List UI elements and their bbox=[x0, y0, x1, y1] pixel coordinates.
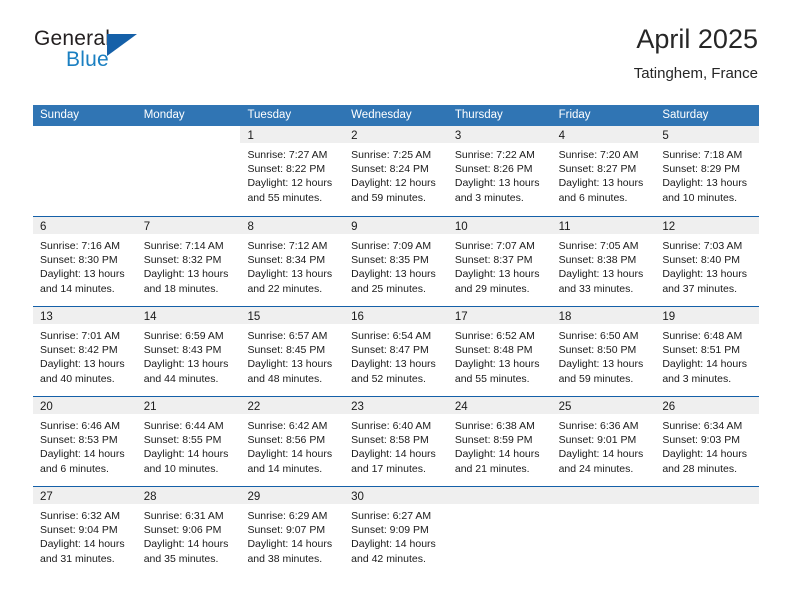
sunset-text: Sunset: 9:07 PM bbox=[247, 523, 337, 537]
day-sun-info: Sunrise: 6:44 AMSunset: 8:55 PMDaylight:… bbox=[137, 414, 241, 476]
sunrise-text: Sunrise: 6:38 AM bbox=[455, 419, 545, 433]
title-block: April 2025 Tatinghem, France bbox=[634, 26, 758, 81]
day-sun-info: Sunrise: 6:59 AMSunset: 8:43 PMDaylight:… bbox=[137, 324, 241, 386]
sunset-text: Sunset: 8:30 PM bbox=[40, 253, 130, 267]
calendar-day-cell[interactable]: 17Sunrise: 6:52 AMSunset: 8:48 PMDayligh… bbox=[448, 307, 552, 396]
daylight-text-line2: and 22 minutes. bbox=[247, 282, 337, 296]
day-number-band: 13 bbox=[33, 307, 137, 324]
day-number-band: 4 bbox=[552, 126, 656, 143]
sunrise-text: Sunrise: 6:52 AM bbox=[455, 329, 545, 343]
sunset-text: Sunset: 8:26 PM bbox=[455, 162, 545, 176]
calendar-week-row: 13Sunrise: 7:01 AMSunset: 8:42 PMDayligh… bbox=[33, 306, 759, 396]
day-number: 5 bbox=[662, 130, 668, 142]
day-sun-info: Sunrise: 6:34 AMSunset: 9:03 PMDaylight:… bbox=[655, 414, 759, 476]
day-sun-info: Sunrise: 7:05 AMSunset: 8:38 PMDaylight:… bbox=[552, 234, 656, 296]
calendar-day-cell[interactable]: 8Sunrise: 7:12 AMSunset: 8:34 PMDaylight… bbox=[240, 217, 344, 306]
weekday-header-sunday: Sunday bbox=[33, 105, 137, 126]
daylight-text-line1: Daylight: 14 hours bbox=[144, 447, 234, 461]
daylight-text-line2: and 52 minutes. bbox=[351, 372, 441, 386]
day-sun-info: Sunrise: 6:31 AMSunset: 9:06 PMDaylight:… bbox=[137, 504, 241, 566]
sunrise-text: Sunrise: 7:20 AM bbox=[559, 148, 649, 162]
sunrise-text: Sunrise: 6:50 AM bbox=[559, 329, 649, 343]
daylight-text-line1: Daylight: 14 hours bbox=[455, 447, 545, 461]
day-number: 21 bbox=[144, 401, 157, 413]
day-sun-info: Sunrise: 6:54 AMSunset: 8:47 PMDaylight:… bbox=[344, 324, 448, 386]
calendar-day-cell[interactable]: 26Sunrise: 6:34 AMSunset: 9:03 PMDayligh… bbox=[655, 397, 759, 486]
daylight-text-line2: and 40 minutes. bbox=[40, 372, 130, 386]
day-number: 3 bbox=[455, 130, 461, 142]
day-number: 29 bbox=[247, 491, 260, 503]
day-number: 30 bbox=[351, 491, 364, 503]
calendar-week-row: 27Sunrise: 6:32 AMSunset: 9:04 PMDayligh… bbox=[33, 486, 759, 576]
sunset-text: Sunset: 9:09 PM bbox=[351, 523, 441, 537]
daylight-text-line2: and 48 minutes. bbox=[247, 372, 337, 386]
day-number-band bbox=[552, 487, 656, 504]
daylight-text-line1: Daylight: 14 hours bbox=[144, 537, 234, 551]
logo-word-general: General bbox=[34, 28, 110, 49]
daylight-text-line1: Daylight: 13 hours bbox=[40, 267, 130, 281]
calendar-day-cell[interactable]: 11Sunrise: 7:05 AMSunset: 8:38 PMDayligh… bbox=[552, 217, 656, 306]
weekday-header-friday: Friday bbox=[552, 105, 656, 126]
sunset-text: Sunset: 8:42 PM bbox=[40, 343, 130, 357]
sunset-text: Sunset: 8:59 PM bbox=[455, 433, 545, 447]
daylight-text-line1: Daylight: 14 hours bbox=[351, 537, 441, 551]
daylight-text-line2: and 38 minutes. bbox=[247, 552, 337, 566]
sunrise-text: Sunrise: 6:34 AM bbox=[662, 419, 752, 433]
day-number-band: 7 bbox=[137, 217, 241, 234]
daylight-text-line2: and 6 minutes. bbox=[40, 462, 130, 476]
daylight-text-line2: and 6 minutes. bbox=[559, 191, 649, 205]
day-number: 19 bbox=[662, 311, 675, 323]
calendar-week-row: 20Sunrise: 6:46 AMSunset: 8:53 PMDayligh… bbox=[33, 396, 759, 486]
calendar-day-cell[interactable]: 12Sunrise: 7:03 AMSunset: 8:40 PMDayligh… bbox=[655, 217, 759, 306]
calendar-day-cell[interactable]: 9Sunrise: 7:09 AMSunset: 8:35 PMDaylight… bbox=[344, 217, 448, 306]
daylight-text-line2: and 14 minutes. bbox=[247, 462, 337, 476]
calendar-day-cell[interactable]: 14Sunrise: 6:59 AMSunset: 8:43 PMDayligh… bbox=[137, 307, 241, 396]
general-blue-logo[interactable]: General Blue bbox=[34, 28, 164, 76]
day-sun-info: Sunrise: 7:27 AMSunset: 8:22 PMDaylight:… bbox=[240, 143, 344, 205]
day-number: 17 bbox=[455, 311, 468, 323]
day-number: 23 bbox=[351, 401, 364, 413]
day-number: 22 bbox=[247, 401, 260, 413]
daylight-text-line2: and 35 minutes. bbox=[144, 552, 234, 566]
day-sun-info: Sunrise: 6:40 AMSunset: 8:58 PMDaylight:… bbox=[344, 414, 448, 476]
day-number-band: 15 bbox=[240, 307, 344, 324]
daylight-text-line2: and 29 minutes. bbox=[455, 282, 545, 296]
daylight-text-line2: and 25 minutes. bbox=[351, 282, 441, 296]
calendar-day-cell-empty bbox=[33, 126, 137, 216]
sunset-text: Sunset: 9:06 PM bbox=[144, 523, 234, 537]
calendar-day-cell-empty bbox=[552, 487, 656, 576]
daylight-text-line1: Daylight: 13 hours bbox=[559, 176, 649, 190]
daylight-text-line1: Daylight: 13 hours bbox=[144, 357, 234, 371]
day-sun-info: Sunrise: 7:18 AMSunset: 8:29 PMDaylight:… bbox=[655, 143, 759, 205]
sunrise-text: Sunrise: 7:25 AM bbox=[351, 148, 441, 162]
day-number-band: 26 bbox=[655, 397, 759, 414]
calendar-day-cell[interactable]: 3Sunrise: 7:22 AMSunset: 8:26 PMDaylight… bbox=[448, 126, 552, 216]
daylight-text-line2: and 33 minutes. bbox=[559, 282, 649, 296]
weekday-header-monday: Monday bbox=[137, 105, 241, 126]
calendar-day-cell[interactable]: 30Sunrise: 6:27 AMSunset: 9:09 PMDayligh… bbox=[344, 487, 448, 576]
daylight-text-line1: Daylight: 13 hours bbox=[247, 267, 337, 281]
day-number: 26 bbox=[662, 401, 675, 413]
daylight-text-line1: Daylight: 14 hours bbox=[559, 447, 649, 461]
weekday-header-tuesday: Tuesday bbox=[240, 105, 344, 126]
sunset-text: Sunset: 8:48 PM bbox=[455, 343, 545, 357]
daylight-text-line1: Daylight: 14 hours bbox=[662, 447, 752, 461]
sunset-text: Sunset: 8:34 PM bbox=[247, 253, 337, 267]
day-sun-info: Sunrise: 6:38 AMSunset: 8:59 PMDaylight:… bbox=[448, 414, 552, 476]
daylight-text-line2: and 21 minutes. bbox=[455, 462, 545, 476]
daylight-text-line2: and 55 minutes. bbox=[247, 191, 337, 205]
daylight-text-line2: and 55 minutes. bbox=[455, 372, 545, 386]
sunset-text: Sunset: 8:53 PM bbox=[40, 433, 130, 447]
day-number-band: 27 bbox=[33, 487, 137, 504]
daylight-text-line2: and 3 minutes. bbox=[455, 191, 545, 205]
daylight-text-line1: Daylight: 13 hours bbox=[559, 357, 649, 371]
calendar-day-cell[interactable]: 7Sunrise: 7:14 AMSunset: 8:32 PMDaylight… bbox=[137, 217, 241, 306]
day-number: 9 bbox=[351, 221, 357, 233]
sunset-text: Sunset: 8:24 PM bbox=[351, 162, 441, 176]
daylight-text-line2: and 44 minutes. bbox=[144, 372, 234, 386]
day-number: 2 bbox=[351, 130, 357, 142]
daylight-text-line2: and 37 minutes. bbox=[662, 282, 752, 296]
daylight-text-line1: Daylight: 12 hours bbox=[247, 176, 337, 190]
sunrise-text: Sunrise: 7:09 AM bbox=[351, 239, 441, 253]
day-sun-info: Sunrise: 6:42 AMSunset: 8:56 PMDaylight:… bbox=[240, 414, 344, 476]
day-number-band: 21 bbox=[137, 397, 241, 414]
daylight-text-line2: and 10 minutes. bbox=[662, 191, 752, 205]
day-number-band: 9 bbox=[344, 217, 448, 234]
day-number-band: 2 bbox=[344, 126, 448, 143]
day-number-band: 24 bbox=[448, 397, 552, 414]
day-number-band bbox=[137, 126, 241, 143]
sunrise-text: Sunrise: 6:46 AM bbox=[40, 419, 130, 433]
sunrise-text: Sunrise: 6:59 AM bbox=[144, 329, 234, 343]
daylight-text-line1: Daylight: 14 hours bbox=[40, 537, 130, 551]
day-number-band: 6 bbox=[33, 217, 137, 234]
day-number: 8 bbox=[247, 221, 253, 233]
sunrise-text: Sunrise: 6:27 AM bbox=[351, 509, 441, 523]
sunrise-text: Sunrise: 7:27 AM bbox=[247, 148, 337, 162]
daylight-text-line1: Daylight: 13 hours bbox=[144, 267, 234, 281]
sunset-text: Sunset: 9:01 PM bbox=[559, 433, 649, 447]
sunrise-text: Sunrise: 6:29 AM bbox=[247, 509, 337, 523]
calendar-day-cell[interactable]: 22Sunrise: 6:42 AMSunset: 8:56 PMDayligh… bbox=[240, 397, 344, 486]
day-sun-info: Sunrise: 6:46 AMSunset: 8:53 PMDaylight:… bbox=[33, 414, 137, 476]
calendar-page: General Blue April 2025 Tatinghem, Franc… bbox=[0, 0, 792, 612]
day-sun-info: Sunrise: 6:29 AMSunset: 9:07 PMDaylight:… bbox=[240, 504, 344, 566]
day-sun-info: Sunrise: 7:22 AMSunset: 8:26 PMDaylight:… bbox=[448, 143, 552, 205]
sunset-text: Sunset: 9:04 PM bbox=[40, 523, 130, 537]
calendar-day-cell[interactable]: 10Sunrise: 7:07 AMSunset: 8:37 PMDayligh… bbox=[448, 217, 552, 306]
weekday-header-row: Sunday Monday Tuesday Wednesday Thursday… bbox=[33, 105, 759, 126]
day-sun-info: Sunrise: 6:27 AMSunset: 9:09 PMDaylight:… bbox=[344, 504, 448, 566]
day-number: 10 bbox=[455, 221, 468, 233]
sunrise-text: Sunrise: 6:42 AM bbox=[247, 419, 337, 433]
day-number: 20 bbox=[40, 401, 53, 413]
calendar-day-cell[interactable]: 25Sunrise: 6:36 AMSunset: 9:01 PMDayligh… bbox=[552, 397, 656, 486]
day-number-band: 22 bbox=[240, 397, 344, 414]
daylight-text-line2: and 31 minutes. bbox=[40, 552, 130, 566]
calendar-day-cell[interactable]: 24Sunrise: 6:38 AMSunset: 8:59 PMDayligh… bbox=[448, 397, 552, 486]
day-number: 1 bbox=[247, 130, 253, 142]
calendar-day-cell[interactable]: 20Sunrise: 6:46 AMSunset: 8:53 PMDayligh… bbox=[33, 397, 137, 486]
day-sun-info: Sunrise: 7:14 AMSunset: 8:32 PMDaylight:… bbox=[137, 234, 241, 296]
calendar-day-cell[interactable]: 19Sunrise: 6:48 AMSunset: 8:51 PMDayligh… bbox=[655, 307, 759, 396]
sunset-text: Sunset: 8:56 PM bbox=[247, 433, 337, 447]
daylight-text-line1: Daylight: 12 hours bbox=[351, 176, 441, 190]
day-number: 4 bbox=[559, 130, 565, 142]
day-sun-info: Sunrise: 7:12 AMSunset: 8:34 PMDaylight:… bbox=[240, 234, 344, 296]
daylight-text-line2: and 59 minutes. bbox=[559, 372, 649, 386]
day-sun-info: Sunrise: 7:07 AMSunset: 8:37 PMDaylight:… bbox=[448, 234, 552, 296]
day-number-band: 28 bbox=[137, 487, 241, 504]
day-number-band: 30 bbox=[344, 487, 448, 504]
weekday-header-thursday: Thursday bbox=[448, 105, 552, 126]
day-number-band bbox=[655, 487, 759, 504]
page-title: April 2025 bbox=[634, 26, 758, 53]
daylight-text-line1: Daylight: 13 hours bbox=[455, 176, 545, 190]
day-number-band: 25 bbox=[552, 397, 656, 414]
day-number: 14 bbox=[144, 311, 157, 323]
sunset-text: Sunset: 8:43 PM bbox=[144, 343, 234, 357]
sunset-text: Sunset: 8:47 PM bbox=[351, 343, 441, 357]
day-number-band: 12 bbox=[655, 217, 759, 234]
daylight-text-line2: and 18 minutes. bbox=[144, 282, 234, 296]
sunset-text: Sunset: 8:50 PM bbox=[559, 343, 649, 357]
sunrise-text: Sunrise: 6:36 AM bbox=[559, 419, 649, 433]
sunrise-text: Sunrise: 7:18 AM bbox=[662, 148, 752, 162]
day-number: 18 bbox=[559, 311, 572, 323]
day-number-band: 29 bbox=[240, 487, 344, 504]
sunrise-text: Sunrise: 6:57 AM bbox=[247, 329, 337, 343]
sunrise-text: Sunrise: 7:05 AM bbox=[559, 239, 649, 253]
sunrise-text: Sunrise: 6:54 AM bbox=[351, 329, 441, 343]
daylight-text-line1: Daylight: 14 hours bbox=[247, 447, 337, 461]
sunrise-text: Sunrise: 7:16 AM bbox=[40, 239, 130, 253]
day-number-band: 5 bbox=[655, 126, 759, 143]
sunrise-text: Sunrise: 6:31 AM bbox=[144, 509, 234, 523]
sunrise-text: Sunrise: 6:32 AM bbox=[40, 509, 130, 523]
day-number: 27 bbox=[40, 491, 53, 503]
day-sun-info: Sunrise: 6:36 AMSunset: 9:01 PMDaylight:… bbox=[552, 414, 656, 476]
day-number-band: 16 bbox=[344, 307, 448, 324]
calendar-day-cell[interactable]: 18Sunrise: 6:50 AMSunset: 8:50 PMDayligh… bbox=[552, 307, 656, 396]
daylight-text-line2: and 24 minutes. bbox=[559, 462, 649, 476]
calendar-week-row: 1Sunrise: 7:27 AMSunset: 8:22 PMDaylight… bbox=[33, 126, 759, 216]
daylight-text-line1: Daylight: 14 hours bbox=[40, 447, 130, 461]
day-number-band: 1 bbox=[240, 126, 344, 143]
sunrise-text: Sunrise: 7:14 AM bbox=[144, 239, 234, 253]
sunset-text: Sunset: 8:51 PM bbox=[662, 343, 752, 357]
day-number-band: 19 bbox=[655, 307, 759, 324]
daylight-text-line2: and 17 minutes. bbox=[351, 462, 441, 476]
day-number-band: 20 bbox=[33, 397, 137, 414]
daylight-text-line1: Daylight: 13 hours bbox=[40, 357, 130, 371]
daylight-text-line1: Daylight: 13 hours bbox=[559, 267, 649, 281]
sunset-text: Sunset: 8:35 PM bbox=[351, 253, 441, 267]
daylight-text-line2: and 14 minutes. bbox=[40, 282, 130, 296]
calendar-day-cell[interactable]: 23Sunrise: 6:40 AMSunset: 8:58 PMDayligh… bbox=[344, 397, 448, 486]
sunrise-text: Sunrise: 7:12 AM bbox=[247, 239, 337, 253]
daylight-text-line1: Daylight: 13 hours bbox=[351, 357, 441, 371]
day-number: 6 bbox=[40, 221, 46, 233]
calendar-day-cell[interactable]: 27Sunrise: 6:32 AMSunset: 9:04 PMDayligh… bbox=[33, 487, 137, 576]
day-sun-info: Sunrise: 6:52 AMSunset: 8:48 PMDaylight:… bbox=[448, 324, 552, 386]
calendar-day-cell[interactable]: 16Sunrise: 6:54 AMSunset: 8:47 PMDayligh… bbox=[344, 307, 448, 396]
sunrise-text: Sunrise: 7:01 AM bbox=[40, 329, 130, 343]
calendar-day-cell-empty bbox=[448, 487, 552, 576]
sunset-text: Sunset: 8:27 PM bbox=[559, 162, 649, 176]
calendar-weeks: 1Sunrise: 7:27 AMSunset: 8:22 PMDaylight… bbox=[33, 126, 759, 576]
day-sun-info: Sunrise: 6:50 AMSunset: 8:50 PMDaylight:… bbox=[552, 324, 656, 386]
daylight-text-line1: Daylight: 13 hours bbox=[351, 267, 441, 281]
day-number-band: 18 bbox=[552, 307, 656, 324]
day-number: 16 bbox=[351, 311, 364, 323]
day-number-band bbox=[448, 487, 552, 504]
sunrise-text: Sunrise: 6:44 AM bbox=[144, 419, 234, 433]
daylight-text-line1: Daylight: 14 hours bbox=[247, 537, 337, 551]
day-number-band: 17 bbox=[448, 307, 552, 324]
calendar-day-cell[interactable]: 21Sunrise: 6:44 AMSunset: 8:55 PMDayligh… bbox=[137, 397, 241, 486]
daylight-text-line2: and 28 minutes. bbox=[662, 462, 752, 476]
day-number-band: 8 bbox=[240, 217, 344, 234]
day-number: 15 bbox=[247, 311, 260, 323]
day-number: 12 bbox=[662, 221, 675, 233]
day-number-band bbox=[33, 126, 137, 143]
day-number: 25 bbox=[559, 401, 572, 413]
calendar-day-cell[interactable]: 6Sunrise: 7:16 AMSunset: 8:30 PMDaylight… bbox=[33, 217, 137, 306]
day-number: 13 bbox=[40, 311, 53, 323]
weekday-header-wednesday: Wednesday bbox=[344, 105, 448, 126]
location-subtitle: Tatinghem, France bbox=[634, 66, 758, 81]
day-sun-info: Sunrise: 6:57 AMSunset: 8:45 PMDaylight:… bbox=[240, 324, 344, 386]
day-number-band: 3 bbox=[448, 126, 552, 143]
calendar-week-row: 6Sunrise: 7:16 AMSunset: 8:30 PMDaylight… bbox=[33, 216, 759, 306]
calendar-day-cell[interactable]: 2Sunrise: 7:25 AMSunset: 8:24 PMDaylight… bbox=[344, 126, 448, 216]
page-header: General Blue April 2025 Tatinghem, Franc… bbox=[0, 0, 792, 100]
daylight-text-line1: Daylight: 14 hours bbox=[662, 357, 752, 371]
sunset-text: Sunset: 8:58 PM bbox=[351, 433, 441, 447]
day-number-band: 14 bbox=[137, 307, 241, 324]
logo-word-blue: Blue bbox=[66, 49, 109, 70]
calendar-grid: Sunday Monday Tuesday Wednesday Thursday… bbox=[33, 105, 759, 576]
daylight-text-line1: Daylight: 14 hours bbox=[351, 447, 441, 461]
day-sun-info: Sunrise: 7:16 AMSunset: 8:30 PMDaylight:… bbox=[33, 234, 137, 296]
sunset-text: Sunset: 8:38 PM bbox=[559, 253, 649, 267]
triangle-icon bbox=[107, 34, 137, 56]
daylight-text-line1: Daylight: 13 hours bbox=[455, 357, 545, 371]
calendar-day-cell[interactable]: 1Sunrise: 7:27 AMSunset: 8:22 PMDaylight… bbox=[240, 126, 344, 216]
day-number-band: 11 bbox=[552, 217, 656, 234]
sunset-text: Sunset: 8:29 PM bbox=[662, 162, 752, 176]
day-number-band: 10 bbox=[448, 217, 552, 234]
day-sun-info: Sunrise: 7:03 AMSunset: 8:40 PMDaylight:… bbox=[655, 234, 759, 296]
daylight-text-line2: and 3 minutes. bbox=[662, 372, 752, 386]
daylight-text-line2: and 59 minutes. bbox=[351, 191, 441, 205]
sunset-text: Sunset: 8:55 PM bbox=[144, 433, 234, 447]
day-sun-info: Sunrise: 6:32 AMSunset: 9:04 PMDaylight:… bbox=[33, 504, 137, 566]
sunset-text: Sunset: 8:32 PM bbox=[144, 253, 234, 267]
day-number: 28 bbox=[144, 491, 157, 503]
sunrise-text: Sunrise: 7:03 AM bbox=[662, 239, 752, 253]
day-sun-info: Sunrise: 6:48 AMSunset: 8:51 PMDaylight:… bbox=[655, 324, 759, 386]
sunset-text: Sunset: 8:40 PM bbox=[662, 253, 752, 267]
sunset-text: Sunset: 8:22 PM bbox=[247, 162, 337, 176]
sunrise-text: Sunrise: 6:40 AM bbox=[351, 419, 441, 433]
calendar-day-cell[interactable]: 4Sunrise: 7:20 AMSunset: 8:27 PMDaylight… bbox=[552, 126, 656, 216]
day-sun-info: Sunrise: 7:25 AMSunset: 8:24 PMDaylight:… bbox=[344, 143, 448, 205]
calendar-day-cell[interactable]: 5Sunrise: 7:18 AMSunset: 8:29 PMDaylight… bbox=[655, 126, 759, 216]
daylight-text-line2: and 42 minutes. bbox=[351, 552, 441, 566]
calendar-day-cell-empty bbox=[655, 487, 759, 576]
day-sun-info: Sunrise: 7:01 AMSunset: 8:42 PMDaylight:… bbox=[33, 324, 137, 386]
sunrise-text: Sunrise: 7:07 AM bbox=[455, 239, 545, 253]
sunset-text: Sunset: 9:03 PM bbox=[662, 433, 752, 447]
calendar-day-cell[interactable]: 29Sunrise: 6:29 AMSunset: 9:07 PMDayligh… bbox=[240, 487, 344, 576]
calendar-day-cell[interactable]: 13Sunrise: 7:01 AMSunset: 8:42 PMDayligh… bbox=[33, 307, 137, 396]
daylight-text-line1: Daylight: 13 hours bbox=[662, 176, 752, 190]
sunrise-text: Sunrise: 6:48 AM bbox=[662, 329, 752, 343]
weekday-header-saturday: Saturday bbox=[655, 105, 759, 126]
day-number-band: 23 bbox=[344, 397, 448, 414]
sunset-text: Sunset: 8:37 PM bbox=[455, 253, 545, 267]
daylight-text-line1: Daylight: 13 hours bbox=[455, 267, 545, 281]
calendar-day-cell[interactable]: 15Sunrise: 6:57 AMSunset: 8:45 PMDayligh… bbox=[240, 307, 344, 396]
daylight-text-line1: Daylight: 13 hours bbox=[662, 267, 752, 281]
calendar-day-cell-empty bbox=[137, 126, 241, 216]
sunrise-text: Sunrise: 7:22 AM bbox=[455, 148, 545, 162]
calendar-day-cell[interactable]: 28Sunrise: 6:31 AMSunset: 9:06 PMDayligh… bbox=[137, 487, 241, 576]
day-number: 24 bbox=[455, 401, 468, 413]
day-sun-info: Sunrise: 7:20 AMSunset: 8:27 PMDaylight:… bbox=[552, 143, 656, 205]
sunset-text: Sunset: 8:45 PM bbox=[247, 343, 337, 357]
daylight-text-line1: Daylight: 13 hours bbox=[247, 357, 337, 371]
day-number: 7 bbox=[144, 221, 150, 233]
day-sun-info: Sunrise: 7:09 AMSunset: 8:35 PMDaylight:… bbox=[344, 234, 448, 296]
day-number: 11 bbox=[559, 221, 571, 233]
daylight-text-line2: and 10 minutes. bbox=[144, 462, 234, 476]
